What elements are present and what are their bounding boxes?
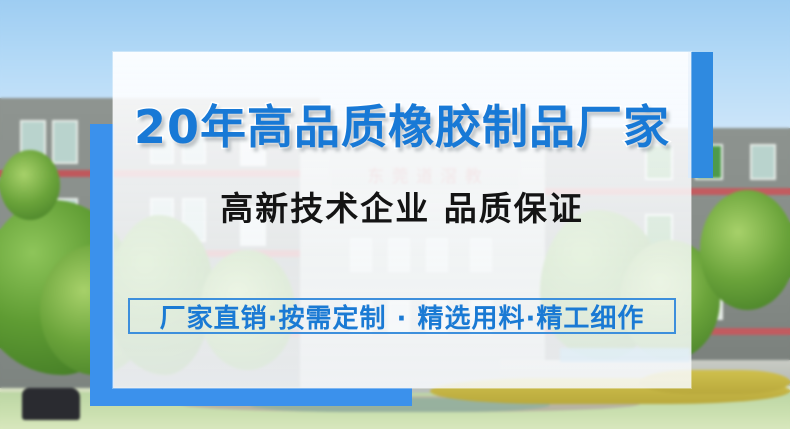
subheadline: 高新技术企业 品质保证 (220, 192, 584, 225)
accent-bar-right (688, 52, 713, 178)
accent-bar-left (90, 124, 114, 402)
tagline: 厂家直销·按需定制 · 精选用料·精工细作 (160, 298, 645, 335)
content-panel: 20年高品质橡胶制品厂家 高新技术企业 品质保证 厂家直销·按需定制 · 精选用… (113, 52, 691, 388)
headline: 20年高品质橡胶制品厂家 (134, 104, 670, 150)
accent-bar-bottom (90, 388, 412, 406)
tagline-box: 厂家直销·按需定制 · 精选用料·精工细作 (128, 298, 676, 334)
promo-banner: 东 莞 道 滘 教 (0, 0, 790, 429)
